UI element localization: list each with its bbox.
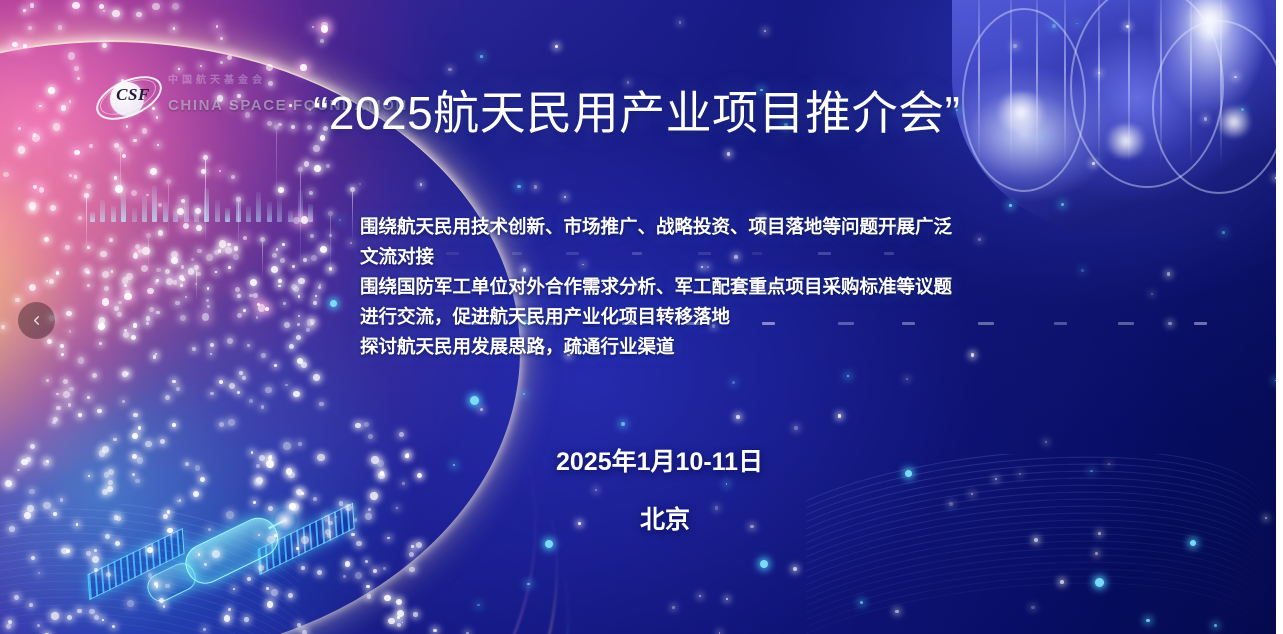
particle xyxy=(298,278,304,284)
particle xyxy=(124,284,127,287)
particle xyxy=(256,316,258,318)
module-highlight xyxy=(1102,124,1150,158)
connector-stalk xyxy=(238,200,239,244)
particle xyxy=(112,10,120,18)
aurora-swoosh-deep-blue xyxy=(0,345,609,634)
description-line-1: 围绕航天民用技术创新、市场推广、战略投资、项目落地等问题开展广泛文流对接 xyxy=(360,212,960,272)
particle xyxy=(29,202,36,209)
particle xyxy=(411,545,413,547)
particle xyxy=(1265,517,1267,519)
particle xyxy=(1095,578,1104,587)
particle xyxy=(76,523,79,526)
particle xyxy=(89,144,93,148)
particle xyxy=(288,472,295,479)
particle xyxy=(320,39,324,43)
particle xyxy=(313,301,317,305)
particle xyxy=(293,217,300,224)
particle xyxy=(172,380,176,384)
particle xyxy=(291,503,299,511)
particle xyxy=(180,315,186,321)
particle xyxy=(1019,473,1022,476)
particle xyxy=(131,190,137,196)
particle xyxy=(302,630,307,634)
particle xyxy=(750,525,754,529)
mesh-arc xyxy=(806,532,1272,634)
particle xyxy=(249,294,252,297)
holographic-satellite-icon xyxy=(81,444,362,634)
city-skyline-silhouette xyxy=(90,178,320,222)
particle xyxy=(51,612,59,620)
particle xyxy=(470,396,479,405)
particle xyxy=(99,342,102,345)
particle xyxy=(3,172,9,178)
particle xyxy=(313,374,320,381)
particle xyxy=(699,595,701,597)
connector-stalk xyxy=(276,128,277,198)
particle xyxy=(138,249,142,253)
particle xyxy=(359,183,361,185)
particle xyxy=(202,313,210,321)
module-seam xyxy=(1098,0,1100,165)
particle xyxy=(272,253,277,258)
particle xyxy=(383,567,386,570)
particle xyxy=(764,30,766,32)
module-ring xyxy=(1152,20,1276,194)
particle xyxy=(328,521,332,525)
particle xyxy=(65,245,70,250)
particle xyxy=(339,219,341,221)
particle xyxy=(1234,76,1237,79)
particle xyxy=(318,286,322,290)
particle xyxy=(12,42,18,48)
particle xyxy=(367,594,372,599)
particle xyxy=(89,609,94,614)
particle xyxy=(399,432,404,437)
particle xyxy=(141,265,148,272)
particle xyxy=(719,632,721,634)
particle xyxy=(102,619,104,621)
description-line-2: 围绕国防军工单位对外合作需求分析、军工配套重点项目采购标准等议题进行交流，促进航… xyxy=(360,272,960,332)
particle xyxy=(69,330,71,332)
particle xyxy=(239,371,243,375)
particle xyxy=(345,504,352,511)
particle xyxy=(309,191,314,196)
satellite-module-small xyxy=(143,559,200,606)
particle xyxy=(298,295,300,297)
particle xyxy=(286,468,293,475)
particle xyxy=(185,462,189,466)
particle xyxy=(5,480,12,487)
particle xyxy=(219,240,226,247)
particle xyxy=(9,483,11,485)
mesh-arc xyxy=(0,552,300,634)
particle xyxy=(106,572,111,577)
particle xyxy=(15,298,19,302)
particle xyxy=(56,406,60,410)
particle xyxy=(237,391,240,394)
connector-stalk xyxy=(262,240,263,276)
particle xyxy=(307,319,313,325)
particle xyxy=(66,549,70,553)
particle xyxy=(99,4,104,9)
particle xyxy=(895,610,898,613)
particle xyxy=(172,423,176,427)
particle xyxy=(311,323,314,326)
mesh-arc xyxy=(806,454,1272,634)
particle xyxy=(304,161,309,166)
particle xyxy=(564,196,566,198)
particle xyxy=(301,566,305,570)
particle xyxy=(200,477,205,482)
particle xyxy=(114,306,119,311)
particle xyxy=(133,139,137,143)
particle xyxy=(293,391,299,397)
particle xyxy=(30,444,35,449)
particle xyxy=(33,133,36,136)
particle xyxy=(242,376,246,380)
mesh-arc xyxy=(806,476,1272,634)
event-description: 围绕航天民用技术创新、市场推广、战略投资、项目落地等问题开展广泛文流对接 围绕国… xyxy=(360,212,960,362)
particle xyxy=(180,284,183,287)
particle xyxy=(325,529,332,536)
particle xyxy=(971,353,975,357)
carousel-prev-button[interactable] xyxy=(18,302,55,339)
particle xyxy=(191,258,194,261)
particle xyxy=(329,267,332,270)
particle xyxy=(794,426,798,430)
particle xyxy=(193,491,199,497)
mesh-arc xyxy=(0,592,300,634)
particle xyxy=(150,168,157,175)
aurora-swoosh-pink xyxy=(0,120,608,634)
particle xyxy=(371,456,379,464)
mesh-arc xyxy=(806,462,1272,634)
particle xyxy=(256,464,260,468)
particle xyxy=(167,528,173,534)
particle xyxy=(289,344,294,349)
particle xyxy=(46,460,49,463)
particle xyxy=(330,300,337,307)
particle xyxy=(115,541,120,546)
connector-stalk xyxy=(86,196,87,250)
particle xyxy=(237,294,241,298)
particle xyxy=(726,483,728,485)
particle xyxy=(402,622,404,624)
mesh-arc xyxy=(0,568,300,634)
particle xyxy=(53,123,61,131)
particle xyxy=(234,246,239,251)
particle xyxy=(123,332,129,338)
particle xyxy=(860,601,863,604)
particle xyxy=(206,299,209,302)
particle xyxy=(1098,532,1101,535)
particle xyxy=(282,243,285,246)
satellite-solar-panel-right xyxy=(258,503,355,575)
mesh-arc xyxy=(806,469,1272,634)
particle xyxy=(329,268,332,271)
particle xyxy=(69,100,71,102)
particle xyxy=(152,3,159,10)
module-highlight xyxy=(1214,106,1254,138)
particle xyxy=(406,453,409,456)
particle xyxy=(84,268,89,273)
particle xyxy=(207,305,210,308)
mesh-arc xyxy=(0,536,300,634)
particle xyxy=(166,278,173,285)
particle xyxy=(1076,23,1078,25)
wave-mesh-right xyxy=(806,454,1276,634)
particle xyxy=(321,25,328,32)
particle xyxy=(156,279,159,282)
particle xyxy=(165,395,170,400)
particle xyxy=(448,68,452,72)
particle xyxy=(216,25,218,27)
event-city: 北京 xyxy=(640,508,690,533)
particle xyxy=(732,381,735,384)
particle xyxy=(523,393,525,395)
particle xyxy=(195,208,201,214)
particle xyxy=(195,465,201,471)
particle xyxy=(215,271,217,273)
particle xyxy=(266,587,269,590)
particle xyxy=(61,353,64,356)
particle xyxy=(356,541,362,547)
particle xyxy=(235,287,240,292)
particle xyxy=(285,384,287,386)
particle xyxy=(32,134,40,142)
particle xyxy=(74,175,78,179)
particle xyxy=(267,601,274,608)
particle xyxy=(18,146,26,154)
particle xyxy=(111,270,113,272)
particle xyxy=(269,455,271,457)
particle xyxy=(253,501,257,505)
mesh-arc xyxy=(806,454,1272,634)
particle xyxy=(224,615,231,622)
particle xyxy=(197,249,202,254)
particle xyxy=(297,323,300,326)
particle xyxy=(29,489,34,494)
particle xyxy=(207,287,210,290)
particle xyxy=(68,52,75,59)
mesh-arc xyxy=(806,454,1272,632)
particle xyxy=(18,127,21,130)
particle xyxy=(1167,272,1171,276)
particle xyxy=(61,105,66,110)
particle xyxy=(94,568,98,572)
particle xyxy=(283,302,286,305)
particle xyxy=(30,205,35,210)
particle xyxy=(838,414,841,417)
particle xyxy=(949,502,953,506)
particle xyxy=(103,10,105,12)
particle xyxy=(227,55,232,60)
particle xyxy=(78,357,85,364)
mesh-arc xyxy=(806,490,1272,634)
particle xyxy=(351,533,355,537)
particle xyxy=(243,236,247,240)
particle xyxy=(37,624,40,627)
particle xyxy=(148,573,153,578)
particle xyxy=(133,323,138,328)
particle xyxy=(310,319,315,324)
logo-initials: CSF xyxy=(113,86,153,103)
particle xyxy=(157,144,159,146)
particle xyxy=(126,372,129,375)
particle xyxy=(196,272,201,277)
particle xyxy=(265,307,269,311)
logo-chinese-name: 中国航天基金会 xyxy=(168,76,266,86)
particle xyxy=(206,254,213,261)
particle xyxy=(413,612,418,617)
particle xyxy=(268,506,273,511)
particle xyxy=(171,257,178,264)
particle xyxy=(218,249,222,253)
particle xyxy=(420,183,422,185)
particle xyxy=(319,402,324,407)
particle xyxy=(114,143,119,148)
particle xyxy=(98,323,105,330)
particle xyxy=(293,286,299,292)
particle xyxy=(154,582,158,586)
module-seam xyxy=(1128,0,1130,165)
particle xyxy=(736,415,739,418)
particle xyxy=(38,572,41,575)
particle xyxy=(163,605,165,607)
particle xyxy=(303,258,307,262)
particle xyxy=(210,343,214,347)
particle xyxy=(1060,580,1064,584)
particle xyxy=(409,552,414,557)
particle xyxy=(56,393,59,396)
particle xyxy=(296,335,301,340)
particle xyxy=(335,516,338,519)
particle xyxy=(196,225,202,231)
module-seam xyxy=(1160,0,1162,165)
particle xyxy=(179,499,181,501)
particle xyxy=(317,570,322,575)
connector-stalk xyxy=(168,182,169,232)
particle xyxy=(61,548,67,554)
module-highlight xyxy=(1184,0,1236,42)
particle xyxy=(254,478,261,485)
mesh-arc xyxy=(0,560,300,634)
mesh-arc xyxy=(0,504,300,634)
particle xyxy=(314,165,321,172)
particle xyxy=(291,284,297,290)
particle xyxy=(156,311,160,315)
particle xyxy=(146,322,150,326)
particle xyxy=(364,422,369,427)
particle xyxy=(147,288,154,295)
particle xyxy=(249,399,254,404)
particle xyxy=(163,514,168,519)
particle xyxy=(296,547,299,550)
particle xyxy=(60,344,64,348)
carousel-slide: CSF 中国航天基金会 CHINA SPACE FOUNDATION “2025… xyxy=(0,0,1283,634)
particle xyxy=(276,248,279,251)
particle xyxy=(555,45,558,48)
particle xyxy=(74,150,79,155)
particle xyxy=(534,185,538,189)
particle xyxy=(137,457,144,464)
particle xyxy=(326,164,330,168)
particle xyxy=(77,609,81,613)
particle xyxy=(44,237,49,242)
particle xyxy=(203,628,205,630)
particle xyxy=(679,21,681,23)
connector-stalk xyxy=(205,158,206,240)
particle xyxy=(86,551,91,556)
particle xyxy=(250,279,257,286)
particle xyxy=(306,328,310,332)
module-seam xyxy=(1010,0,1012,165)
particle xyxy=(63,379,68,384)
particle xyxy=(365,560,368,563)
particle xyxy=(26,457,31,462)
particle xyxy=(113,438,117,442)
particle xyxy=(517,185,520,188)
particle xyxy=(132,473,135,476)
particle xyxy=(237,313,242,318)
connector-stalk xyxy=(352,190,353,238)
particle xyxy=(317,454,324,461)
particle xyxy=(94,549,98,553)
particle xyxy=(77,77,80,80)
particle xyxy=(72,2,80,10)
particle xyxy=(396,507,398,509)
particle xyxy=(200,65,202,67)
particle xyxy=(1190,540,1196,546)
particle xyxy=(365,513,372,520)
particle xyxy=(43,502,50,509)
particle xyxy=(176,387,180,391)
particle xyxy=(258,534,260,536)
mesh-arc xyxy=(806,518,1272,634)
particle xyxy=(24,512,31,519)
particle xyxy=(672,606,675,609)
particle xyxy=(156,585,159,588)
particle xyxy=(165,584,170,589)
particle xyxy=(229,383,235,389)
particle xyxy=(102,43,107,48)
particle xyxy=(378,472,385,479)
particle xyxy=(179,275,184,280)
particle xyxy=(373,569,377,573)
particle xyxy=(104,472,110,478)
particle xyxy=(257,303,260,306)
particle xyxy=(1092,162,1095,165)
mesh-arc xyxy=(0,576,300,634)
particle xyxy=(133,253,138,258)
particle xyxy=(397,623,401,627)
particle xyxy=(29,284,36,291)
particle xyxy=(1126,25,1129,28)
particle xyxy=(793,567,797,571)
particle xyxy=(181,278,184,281)
particle xyxy=(136,12,142,18)
module-seam xyxy=(978,0,980,165)
particle xyxy=(327,534,331,538)
mesh-arc xyxy=(0,528,300,634)
particle xyxy=(321,22,328,29)
particle xyxy=(409,567,415,573)
particle xyxy=(135,479,140,484)
particle xyxy=(355,423,360,428)
particle xyxy=(220,37,223,40)
particle xyxy=(726,598,728,600)
particle xyxy=(159,598,164,603)
